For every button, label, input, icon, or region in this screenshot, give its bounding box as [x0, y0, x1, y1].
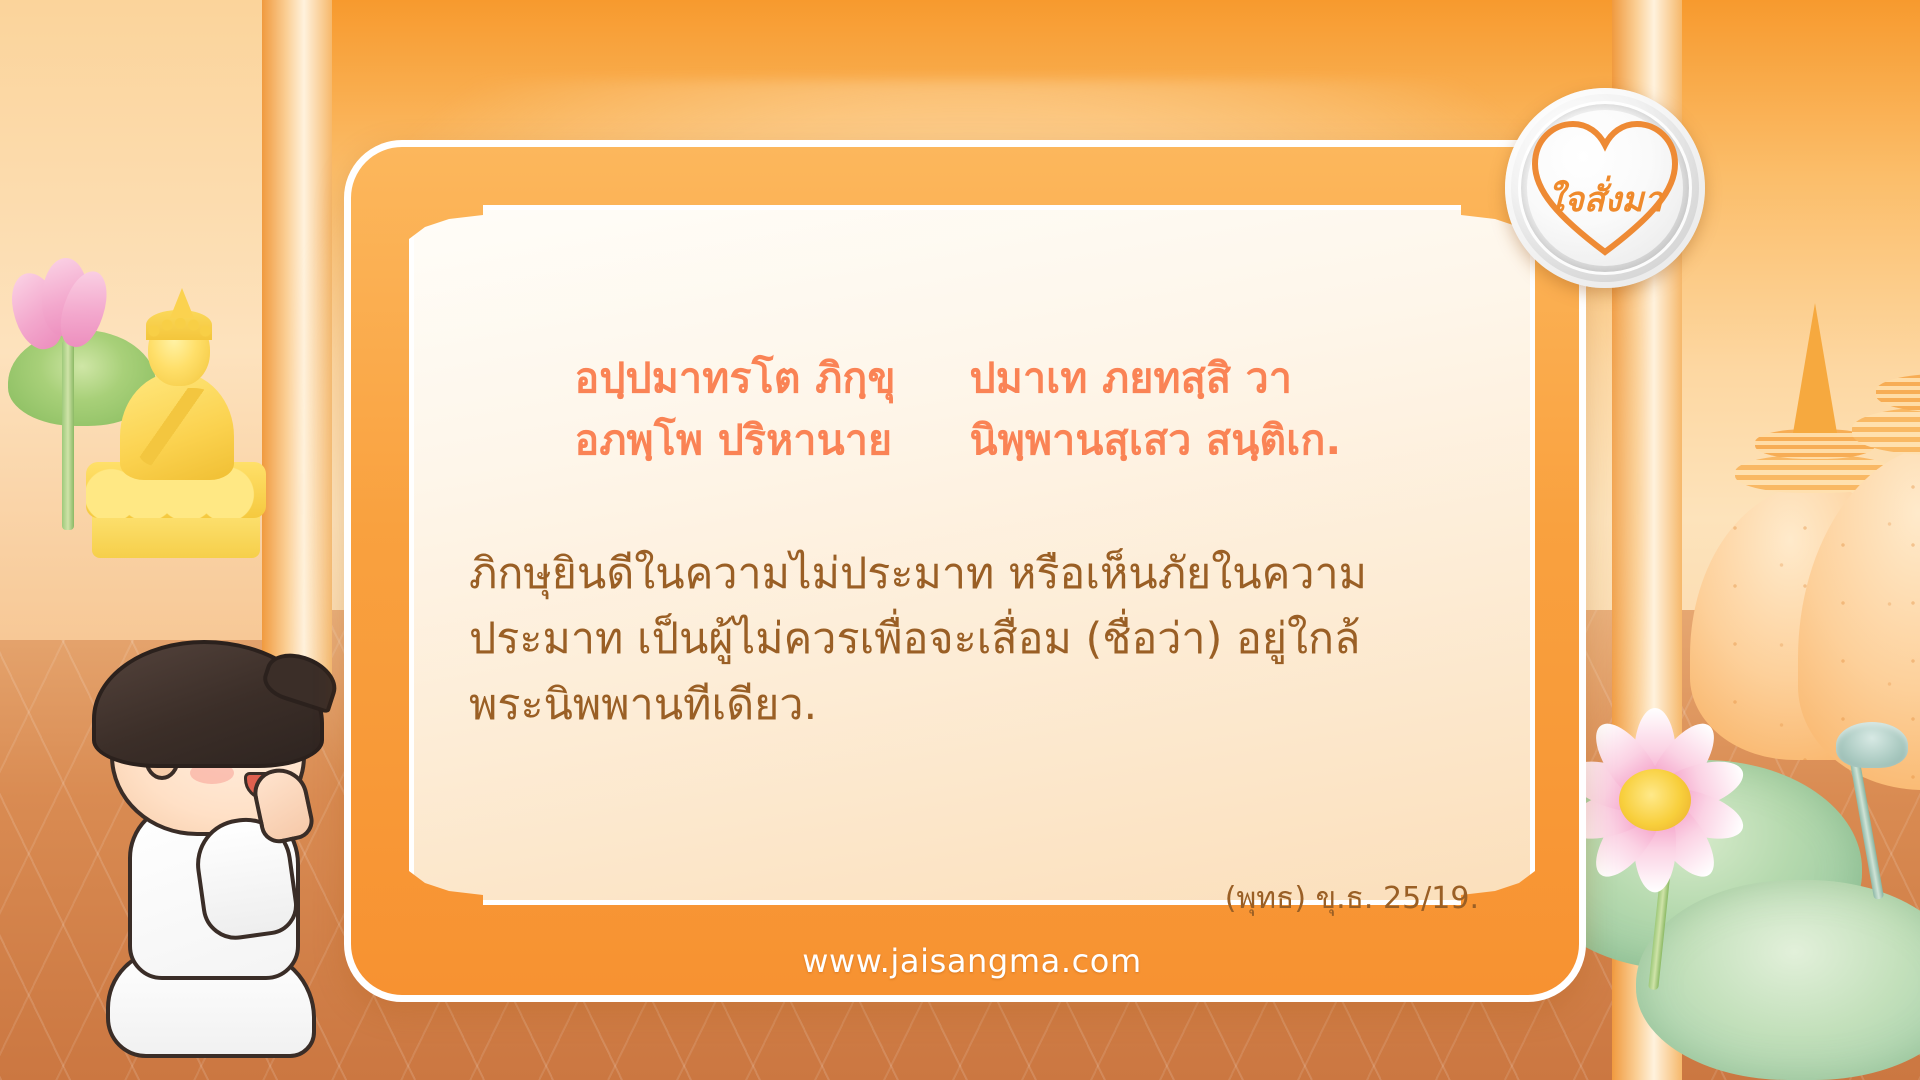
- stupa-rings-upper: [1876, 374, 1920, 412]
- scripture-citation: (พุทธ) ขุ.ธ. 25/19.: [1225, 875, 1479, 922]
- translation-line: พระนิพพานทีเดียว.: [469, 673, 1479, 738]
- logo-badge[interactable]: ใจสั่งมา: [1505, 88, 1705, 288]
- buddha-robe: [138, 388, 230, 466]
- buddha-statue-icon: [86, 258, 266, 558]
- quote-card: อปฺปมาทรโต ภิกฺขุปมาเท ภยทสฺสิ วา อภพฺโพ…: [344, 140, 1586, 1002]
- buddha-ushnisha: [170, 288, 194, 318]
- boy-hair: [92, 640, 324, 768]
- pali-verse-line: อภพฺโพ ปริหานายนิพฺพานสฺเสว สนฺติเก.: [409, 409, 1535, 471]
- pali-verse: อปฺปมาทรโต ภิกฺขุปมาเท ภยทสฺสิ วา อภพฺโพ…: [409, 347, 1535, 472]
- pali-line-1-right: ปมาเท ภยทสฺสิ วา: [970, 347, 1370, 409]
- translation-line: ภิกษุยินดีในความไม่ประมาท หรือเห็นภัยในค…: [469, 542, 1479, 607]
- lotus-seed-pod-icon: [1836, 722, 1908, 768]
- praying-boy-icon: [58, 588, 358, 1068]
- pali-line-1-left: อปฺปมาทรโต ภิกฺขุ: [575, 347, 970, 409]
- stupa-rings: [1852, 407, 1920, 456]
- stupa-icon-large: [1798, 250, 1920, 790]
- translation-line: ประมาท เป็นผู้ไม่ควรเพื่อจะเสื่อม (ชื่อว…: [469, 607, 1479, 672]
- pali-line-2-left: อภพฺโพ ปริหานาย: [575, 409, 970, 471]
- logo-text: ใจสั่งมา: [1505, 172, 1705, 226]
- translation-text: ภิกษุยินดีในความไม่ประมาท หรือเห็นภัยในค…: [469, 542, 1479, 738]
- poster-canvas: อปฺปมาทรโต ภิกฺขุปมาเท ภยทสฺสิ วา อภพฺโพ…: [0, 0, 1920, 1080]
- lotus-center: [1619, 769, 1691, 831]
- pali-line-2-right: นิพฺพานสฺเสว สนฺติเก.: [970, 409, 1370, 471]
- pali-verse-line: อปฺปมาทรโต ภิกฺขุปมาเท ภยทสฺสิ วา: [409, 347, 1535, 409]
- website-url: www.jaisangma.com: [351, 942, 1593, 980]
